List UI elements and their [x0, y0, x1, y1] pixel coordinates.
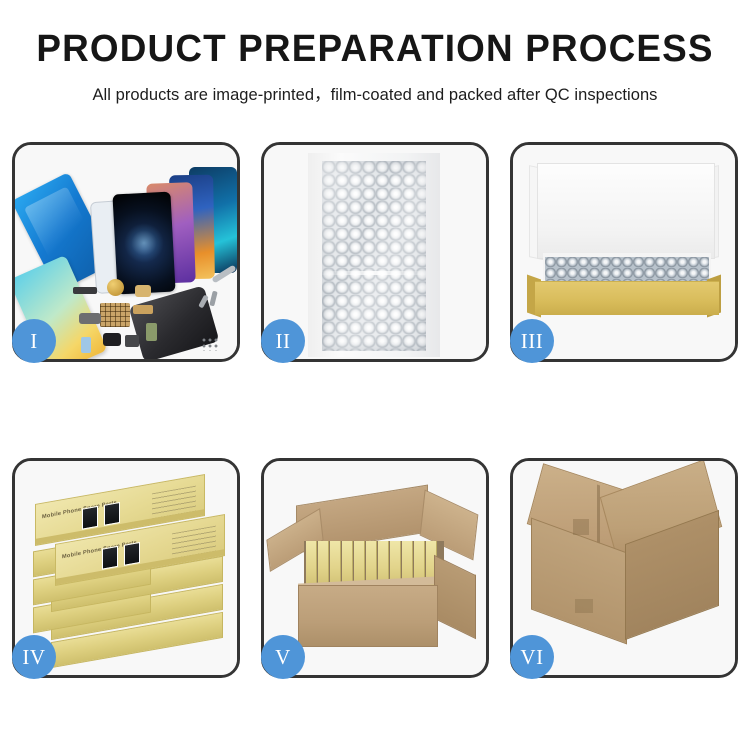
step-badge-1: I	[12, 319, 56, 363]
product-preparation-infographic: PRODUCT PREPARATION PROCESS All products…	[0, 0, 750, 750]
step-badge-2: II	[261, 319, 305, 363]
step-badge-4: IV	[12, 635, 56, 679]
speaker-icon	[125, 335, 139, 347]
carton-tape-upper-icon	[573, 519, 589, 535]
step-badge-6: VI	[510, 635, 554, 679]
carton-right-face-icon	[434, 555, 476, 639]
process-step-card-2: II	[261, 142, 489, 362]
screws-icon	[201, 337, 219, 351]
page-title: PRODUCT PREPARATION PROCESS	[11, 30, 739, 70]
process-step-card-1: I	[12, 142, 240, 362]
process-step-card-6: VI	[510, 458, 738, 678]
header: PRODUCT PREPARATION PROCESS All products…	[0, 0, 750, 105]
carton-tape-lower-icon	[575, 599, 593, 613]
box-stack: Mobile Phone Spare Parts Mobile Phone Sp…	[21, 485, 237, 665]
step-badge-5: V	[261, 635, 305, 679]
box-screen-thumb-icon	[124, 542, 140, 566]
process-step-grid: I II	[12, 142, 738, 678]
box-lid-icon	[537, 163, 715, 259]
part-bar-icon	[73, 287, 97, 294]
flex-cable-icon	[79, 313, 101, 324]
bubble-wrap-icon	[322, 161, 426, 351]
flex-cable-icon	[135, 285, 151, 297]
screwdriver-icon	[209, 291, 217, 307]
page-subtitle: All products are image-printed，film-coat…	[0, 81, 750, 105]
gold-chip-icon	[107, 279, 124, 296]
black-screen-phone-icon	[112, 192, 175, 295]
sim-tray-icon	[81, 337, 91, 353]
camera-module-icon	[103, 333, 121, 346]
process-step-card-3: III	[510, 142, 738, 362]
box-screen-thumb-icon	[82, 506, 98, 530]
box-screen-thumb-icon	[102, 546, 118, 570]
ic-grid-icon	[100, 303, 130, 327]
wrap-seam-icon	[322, 271, 426, 275]
process-step-card-4: Mobile Phone Spare Parts Mobile Phone Sp…	[12, 458, 240, 678]
tray-front-icon	[535, 281, 719, 315]
flex-cable-icon	[133, 305, 153, 314]
box-screen-thumb-icon	[104, 502, 120, 526]
bubble-wrapped-items-icon	[545, 257, 709, 283]
carton-front-face-icon	[298, 585, 438, 647]
battery-icon	[146, 323, 157, 341]
step-badge-3: III	[510, 319, 554, 363]
process-step-card-5: V	[261, 458, 489, 678]
